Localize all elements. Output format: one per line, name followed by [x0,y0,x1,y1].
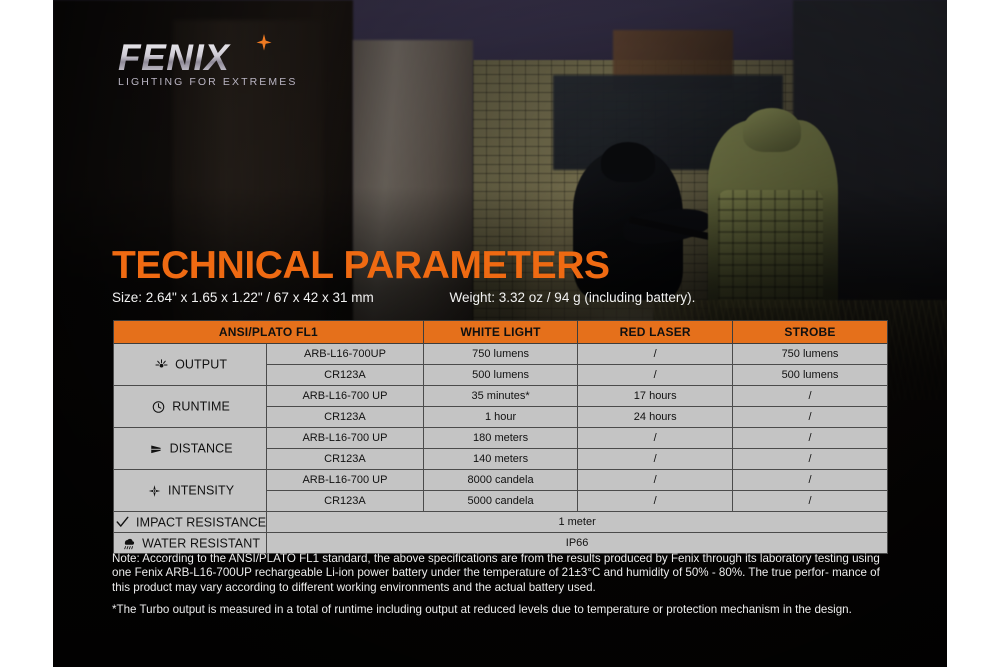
red-laser-cell: / [578,344,733,365]
product-spec-sheet: FENIX LIGHTING FOR EXTREMES TECHNICAL PA… [0,0,1000,667]
brand-tagline: LIGHTING FOR EXTREMES [118,76,358,88]
table-header: ANSI/PLATO FL1 WHITE LIGHT RED LASER STR… [114,321,888,344]
clock-icon [150,400,167,414]
white-light-cell: 1 hour [423,407,578,428]
column-header-white-light: WHITE LIGHT [423,321,578,344]
strobe-cell: / [733,449,888,470]
battery-cell: CR123A [267,365,424,386]
row-label-output: OUTPUT [114,344,267,386]
row-label-text: RUNTIME [172,400,230,414]
red-laser-cell: 17 hours [578,386,733,407]
row-label-text: OUTPUT [175,358,227,372]
impact-check-icon [114,515,131,529]
table-row: DISTANCE ARB-L16-700 UP 180 meters / / [114,428,888,449]
red-laser-cell: 24 hours [578,407,733,428]
row-label-text: DISTANCE [170,442,233,456]
rain-cloud-icon [120,536,137,550]
technical-parameters-table: ANSI/PLATO FL1 WHITE LIGHT RED LASER STR… [113,320,888,554]
battery-cell: ARB-L16-700 UP [267,386,424,407]
note-line-1: Note: According to the ANSI/PLATO FL1 st… [112,552,849,565]
white-light-cell: 140 meters [423,449,578,470]
strobe-cell: / [733,407,888,428]
strobe-cell: 750 lumens [733,344,888,365]
row-label-text: INTENSITY [168,484,234,498]
red-laser-cell: / [578,491,733,512]
row-label-text: WATER RESISTANT [142,536,260,550]
row-label-text: IMPACT RESISTANCE [136,515,266,529]
table-row: OUTPUT ARB-L16-700UP 750 lumens / 750 lu… [114,344,888,365]
battery-cell: CR123A [267,407,424,428]
white-light-cell: 5000 candela [423,491,578,512]
impact-resistance-value: 1 meter [267,512,888,533]
row-label-intensity: INTENSITY [114,470,267,512]
table-header-row: ANSI/PLATO FL1 WHITE LIGHT RED LASER STR… [114,321,888,344]
battery-cell: ARB-L16-700 UP [267,428,424,449]
table-row: IMPACT RESISTANCE 1 meter [114,512,888,533]
beam-distance-icon [148,442,165,456]
white-light-cell: 8000 candela [423,470,578,491]
size-value: Size: 2.64" x 1.65 x 1.22" / 67 x 42 x 3… [112,290,374,305]
row-label-water-resistant: WATER RESISTANT [114,533,267,554]
intensity-crosshair-icon [146,484,163,498]
red-laser-cell: / [578,365,733,386]
note-line-4: *The Turbo output is measured in a total… [112,603,897,617]
page-title: TECHNICAL PARAMETERS [112,245,610,287]
brand-logo: FENIX LIGHTING FOR EXTREMES [118,38,358,94]
row-label-runtime: RUNTIME [114,386,267,428]
footnote: Note: According to the ANSI/PLATO FL1 st… [112,552,897,618]
red-laser-cell: / [578,428,733,449]
table-row: INTENSITY ARB-L16-700 UP 8000 candela / … [114,470,888,491]
water-resistant-value: IP66 [267,533,888,554]
strobe-cell: / [733,491,888,512]
battery-cell: CR123A [267,491,424,512]
battery-cell: ARB-L16-700UP [267,344,424,365]
row-label-distance: DISTANCE [114,428,267,470]
red-laser-cell: / [578,449,733,470]
table-row: WATER RESISTANT IP66 [114,533,888,554]
light-burst-icon [153,358,170,372]
white-light-cell: 750 lumens [423,344,578,365]
size-weight-line: Size: 2.64" x 1.65 x 1.22" / 67 x 42 x 3… [112,290,892,305]
battery-cell: ARB-L16-700 UP [267,470,424,491]
row-label-impact-resistance: IMPACT RESISTANCE [114,512,267,533]
brand-name: FENIX [118,38,358,78]
strobe-cell: / [733,470,888,491]
strobe-cell: / [733,428,888,449]
table-row: RUNTIME ARB-L16-700 UP 35 minutes* 17 ho… [114,386,888,407]
column-header-standard: ANSI/PLATO FL1 [114,321,424,344]
battery-cell: CR123A [267,449,424,470]
strobe-cell: 500 lumens [733,365,888,386]
star-icon [255,32,273,54]
white-light-cell: 500 lumens [423,365,578,386]
strobe-cell: / [733,386,888,407]
weight-value: Weight: 3.32 oz / 94 g (including batter… [450,290,696,305]
column-header-red-laser: RED LASER [578,321,733,344]
column-header-strobe: STROBE [733,321,888,344]
white-light-cell: 35 minutes* [423,386,578,407]
table-body: OUTPUT ARB-L16-700UP 750 lumens / 750 lu… [114,344,888,554]
white-light-cell: 180 meters [423,428,578,449]
red-laser-cell: / [578,470,733,491]
